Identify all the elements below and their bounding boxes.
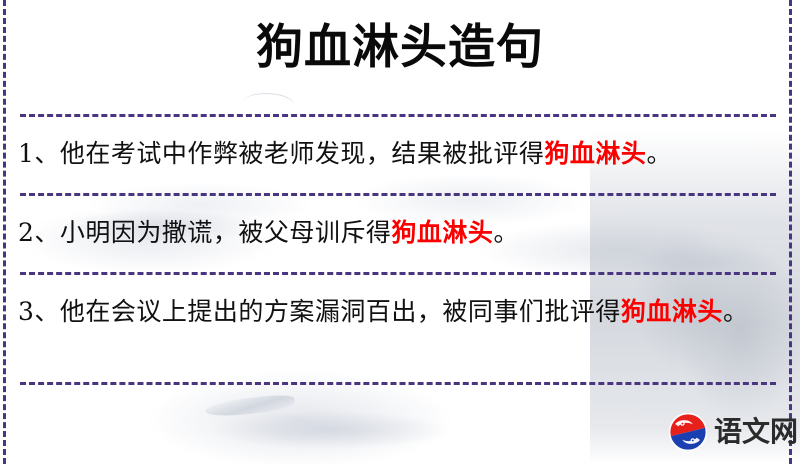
sentence-3-period: 。 [723, 297, 749, 326]
yinyang-fish-emblem-icon [668, 412, 708, 452]
sentence-1-period: 。 [646, 139, 672, 168]
page-title: 狗血淋头造句 [0, 22, 800, 75]
separator-after-sentence-2 [20, 272, 776, 275]
separator-after-sentence-1 [20, 193, 776, 196]
page-root: 狗血淋头造句 1、他在考试中作弊被老师发现，结果被批评得狗血淋头。 2、小明因为… [0, 0, 800, 464]
example-sentence-3: 3、他在会议上提出的方案漏洞百出，被同事们批评得狗血淋头。 [18, 291, 770, 333]
sentence-2-idiom: 狗血淋头 [391, 218, 493, 247]
example-sentence-1: 1、他在考试中作弊被老师发现，结果被批评得狗血淋头。 [18, 133, 770, 175]
background-branch [243, 89, 296, 109]
sentence-1-marker: 1、 [18, 139, 60, 168]
sentence-3-idiom: 狗血淋头 [621, 297, 723, 326]
sentence-3-marker: 3、 [18, 297, 60, 326]
sentence-1-text: 他在考试中作弊被老师发现，结果被批评得 [60, 139, 545, 168]
sentence-2-period: 。 [493, 218, 519, 247]
sentence-1-idiom: 狗血淋头 [544, 139, 646, 168]
separator-after-sentence-3 [20, 382, 776, 385]
site-logo-text: 语文网 [714, 418, 798, 446]
sentence-3-text: 他在会议上提出的方案漏洞百出，被同事们批评得 [60, 297, 621, 326]
site-logo[interactable]: 语文网 [668, 412, 798, 452]
sentence-2-marker: 2、 [18, 218, 60, 247]
example-sentence-2: 2、小明因为撒谎，被父母训斥得狗血淋头。 [18, 212, 770, 254]
sentence-2-text: 小明因为撒谎，被父母训斥得 [60, 218, 392, 247]
separator-under-title [20, 114, 776, 117]
